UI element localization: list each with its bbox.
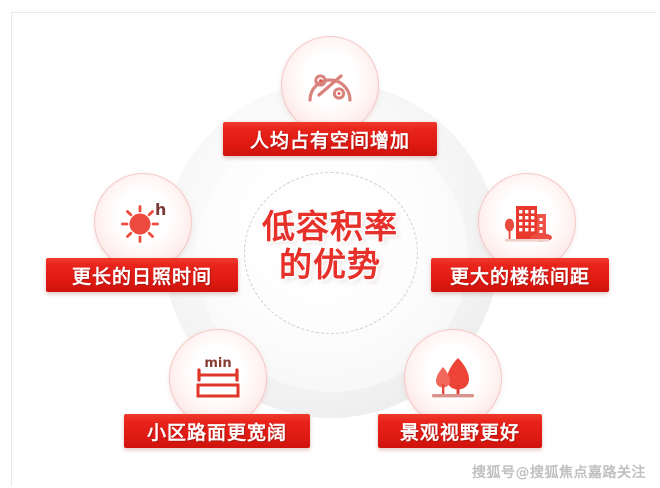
percent-gauge-icon [304, 62, 356, 108]
node-bubble-sunlight-hours[interactable]: h [94, 173, 192, 271]
min-width-ruler-icon: min [188, 352, 248, 404]
node-label-building-spacing: 更大的楼栋间距 [450, 262, 590, 289]
node-bubble-per-capita-space[interactable] [281, 36, 379, 134]
svg-text:min: min [204, 356, 231, 371]
infographic-canvas: 人均占有空间增加 h [0, 0, 660, 488]
node-label-per-capita-space: 人均占有空间增加 [250, 126, 410, 153]
node-banner-landscape-view[interactable]: 景观视野更好 [378, 414, 542, 448]
node-banner-road-width[interactable]: 小区路面更宽阔 [124, 414, 310, 448]
sun-hours-icon: h [115, 197, 171, 247]
sohu-watermark: 搜狐号@搜狐焦点嘉路关注 [472, 462, 646, 482]
node-banner-building-spacing[interactable]: 更大的楼栋间距 [431, 258, 609, 292]
node-bubble-landscape-view[interactable] [404, 329, 502, 427]
node-bubble-building-spacing[interactable] [478, 173, 576, 271]
node-label-road-width: 小区路面更宽阔 [147, 418, 287, 445]
center-title-line1: 低容积率 [262, 207, 398, 246]
two-trees-icon [425, 354, 481, 402]
center-title-line2: 的优势 [225, 246, 435, 284]
node-label-landscape-view: 景观视野更好 [400, 418, 520, 445]
node-banner-per-capita-space[interactable]: 人均占有空间增加 [223, 122, 437, 156]
center-title: 低容积率 的优势 [225, 208, 435, 283]
node-bubble-road-width[interactable]: min [169, 329, 267, 427]
buildings-tree-icon [499, 197, 555, 247]
svg-text:h: h [155, 200, 166, 219]
node-banner-sunlight-hours[interactable]: 更长的日照时间 [46, 258, 238, 292]
node-label-sunlight-hours: 更长的日照时间 [72, 262, 212, 289]
